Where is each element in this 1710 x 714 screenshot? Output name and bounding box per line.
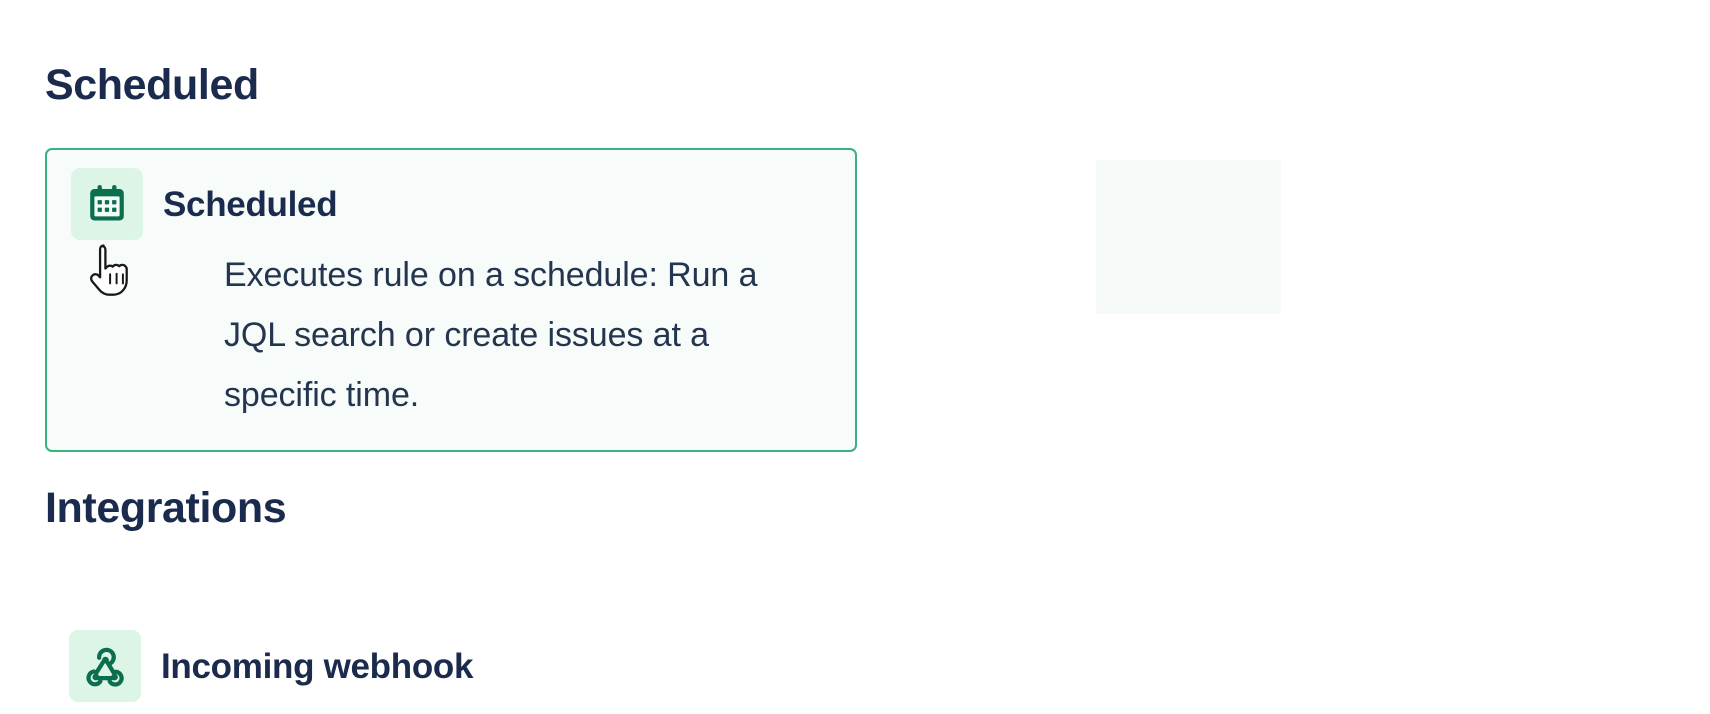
list-item-incoming-webhook[interactable]: Incoming webhook xyxy=(69,630,473,702)
calendar-icon-tile xyxy=(71,168,143,240)
trigger-card-header: Scheduled xyxy=(71,168,337,240)
webhook-icon-tile xyxy=(69,630,141,702)
trigger-card-scheduled[interactable]: Scheduled Executes rule on a schedule: R… xyxy=(45,148,857,452)
placeholder-panel xyxy=(1096,160,1281,314)
trigger-card-title: Scheduled xyxy=(163,187,337,222)
section-heading-integrations: Integrations xyxy=(45,487,286,530)
webhook-icon xyxy=(83,644,127,688)
integration-label: Incoming webhook xyxy=(161,649,473,684)
trigger-picker-stage: Scheduled xyxy=(0,0,1710,714)
trigger-card-description: Executes rule on a schedule: Run a JQL s… xyxy=(224,245,824,425)
section-heading-scheduled: Scheduled xyxy=(45,64,259,107)
calendar-icon xyxy=(85,182,129,226)
